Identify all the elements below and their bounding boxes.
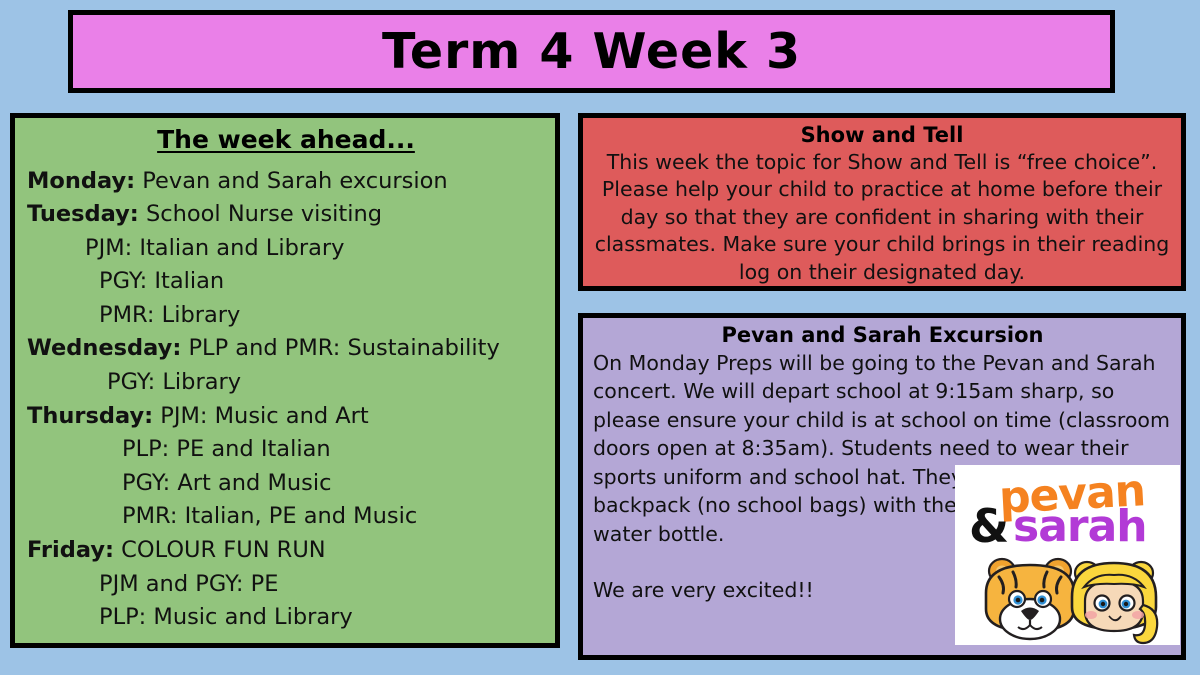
day-label-wednesday: Wednesday:	[27, 335, 181, 361]
tiger-character-icon	[986, 559, 1074, 639]
week-schedule-list: Monday: Pevan and Sarah excursion Tuesda…	[27, 165, 545, 635]
show-and-tell-body: This week the topic for Show and Tell is…	[592, 149, 1172, 287]
show-and-tell-heading: Show and Tell	[592, 123, 1172, 148]
schedule-row-tuesday-pjm: PJM: Italian and Library	[27, 232, 545, 266]
logo-word-sarah: sarah	[1013, 505, 1147, 549]
schedule-row-thursday-pgy: PGY: Art and Music	[27, 467, 545, 501]
day-label-friday: Friday:	[27, 537, 114, 563]
schedule-row-thursday-plp: PLP: PE and Italian	[27, 433, 545, 467]
day-label-monday: Monday:	[27, 168, 135, 194]
schedule-text-tuesday-pmr: PMR: Library	[99, 302, 240, 328]
schedule-row-friday-plp: PLP: Music and Library	[27, 601, 545, 635]
excursion-heading: Pevan and Sarah Excursion	[593, 323, 1172, 348]
schedule-text-thursday: PJM: Music and Art	[153, 403, 369, 429]
girl-character-icon	[1072, 562, 1157, 643]
schedule-text-friday: COLOUR FUN RUN	[114, 537, 326, 563]
schedule-text-thursday-pmr: PMR: Italian, PE and Music	[122, 503, 417, 529]
schedule-row-monday: Monday: Pevan and Sarah excursion	[27, 165, 545, 199]
schedule-text-tuesday: School Nurse visiting	[139, 201, 382, 227]
schedule-text-thursday-pgy: PGY: Art and Music	[122, 470, 332, 496]
schedule-row-thursday: Thursday: PJM: Music and Art	[27, 400, 545, 434]
title-banner: Term 4 Week 3	[68, 10, 1115, 93]
schedule-row-friday: Friday: COLOUR FUN RUN	[27, 534, 545, 568]
schedule-text-wednesday: PLP and PMR: Sustainability	[181, 335, 499, 361]
schedule-row-tuesday-pgy: PGY: Italian	[27, 265, 545, 299]
schedule-row-friday-pjm-pgy: PJM and PGY: PE	[27, 568, 545, 602]
week-ahead-heading: The week ahead...	[27, 126, 545, 154]
schedule-text-wednesday-pgy: PGY: Library	[107, 369, 241, 395]
schedule-row-wednesday-pgy: PGY: Library	[27, 366, 545, 400]
week-ahead-panel: The week ahead... Monday: Pevan and Sara…	[10, 113, 560, 648]
schedule-text-monday: Pevan and Sarah excursion	[135, 168, 448, 194]
logo-characters-icon	[955, 553, 1180, 645]
schedule-text-thursday-plp: PLP: PE and Italian	[122, 436, 331, 462]
schedule-row-tuesday-pmr: PMR: Library	[27, 299, 545, 333]
newsletter-page: Term 4 Week 3 The week ahead... Monday: …	[0, 0, 1200, 675]
schedule-text-tuesday-pjm: PJM: Italian and Library	[85, 235, 344, 261]
schedule-row-tuesday: Tuesday: School Nurse visiting	[27, 198, 545, 232]
schedule-text-tuesday-pgy: PGY: Italian	[99, 268, 224, 294]
pevan-and-sarah-logo: pevan & sarah	[955, 465, 1180, 645]
show-and-tell-panel: Show and Tell This week the topic for Sh…	[578, 113, 1186, 291]
schedule-row-wednesday: Wednesday: PLP and PMR: Sustainability	[27, 332, 545, 366]
page-title: Term 4 Week 3	[382, 27, 801, 76]
schedule-text-friday-plp: PLP: Music and Library	[99, 604, 353, 630]
logo-ampersand-icon: &	[969, 503, 1009, 549]
day-label-thursday: Thursday:	[27, 403, 153, 429]
schedule-row-thursday-pmr: PMR: Italian, PE and Music	[27, 500, 545, 534]
schedule-text-friday-pjm-pgy: PJM and PGY: PE	[99, 571, 278, 597]
day-label-tuesday: Tuesday:	[27, 201, 139, 227]
